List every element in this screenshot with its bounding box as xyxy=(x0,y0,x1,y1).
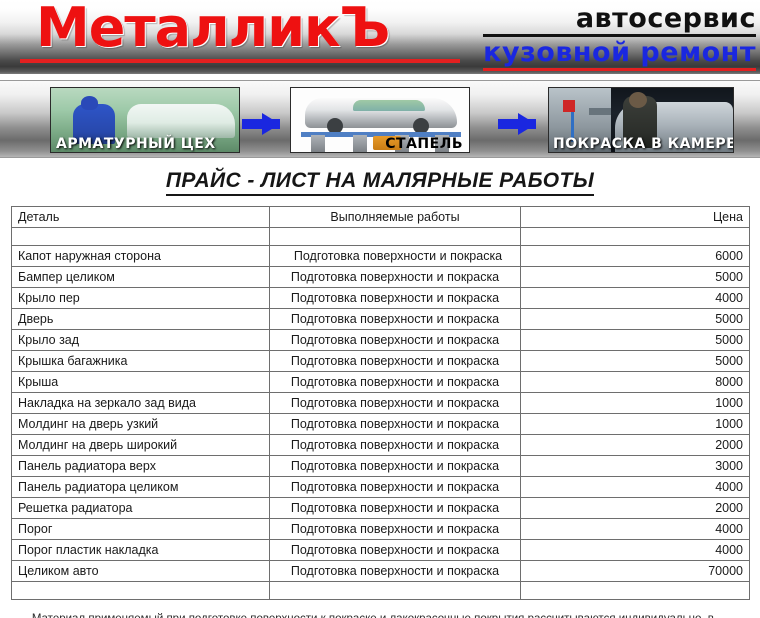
spacer-cell xyxy=(270,582,521,600)
price-cell: 5000 xyxy=(521,309,750,330)
work-cell: Подготовка поверхности и покраска xyxy=(270,267,521,288)
price-cell: 4000 xyxy=(521,519,750,540)
price-cell: 2000 xyxy=(521,435,750,456)
work-cell: Подготовка поверхности и покраска xyxy=(270,435,521,456)
work-cell: Подготовка поверхности и покраска xyxy=(270,393,521,414)
table-row: Капот наружная сторонаПодготовка поверхн… xyxy=(12,246,750,267)
part-cell: Крыло пер xyxy=(12,288,270,309)
table-row: Панель радиатора верхПодготовка поверхно… xyxy=(12,456,750,477)
part-cell: Крыло зад xyxy=(12,330,270,351)
price-table-body: Капот наружная сторонаПодготовка поверхн… xyxy=(12,246,750,582)
photo-paint-booth: ПОКРАСКА В КАМЕРЕ xyxy=(548,87,734,153)
service-tagline-block: автосервис кузовной ремонт xyxy=(483,4,756,71)
work-cell: Подготовка поверхности и покраска xyxy=(270,372,521,393)
price-cell: 70000 xyxy=(521,561,750,582)
table-row: Молдинг на дверь широкийПодготовка повер… xyxy=(12,435,750,456)
work-cell: Подготовка поверхности и покраска xyxy=(270,246,521,267)
price-table-head: Деталь Выполняемые работы Цена xyxy=(12,207,750,246)
brand-underline-rule xyxy=(20,59,460,63)
table-row: Крышка багажникаПодготовка поверхности и… xyxy=(12,351,750,372)
price-table: Деталь Выполняемые работы Цена Капот нар… xyxy=(11,206,750,600)
part-cell: Порог пластик накладка xyxy=(12,540,270,561)
price-cell: 5000 xyxy=(521,351,750,372)
part-cell: Капот наружная сторона xyxy=(12,246,270,267)
table-row: Крыло задПодготовка поверхности и покрас… xyxy=(12,330,750,351)
table-spacer-row-top xyxy=(12,228,750,246)
price-cell: 4000 xyxy=(521,540,750,561)
work-cell: Подготовка поверхности и покраска xyxy=(270,288,521,309)
column-header-work: Выполняемые работы xyxy=(270,207,521,228)
part-cell: Панель радиатора целиком xyxy=(12,477,270,498)
work-cell: Подготовка поверхности и покраска xyxy=(270,330,521,351)
workflow-photo-strip: АРМАТУРНЫЙ ЦЕХ СТАПЕЛЬ ПОКРАСКА В КАМЕРЕ xyxy=(0,80,760,158)
price-cell: 8000 xyxy=(521,372,750,393)
spacer-cell xyxy=(270,228,521,246)
rack-leg xyxy=(311,135,325,152)
table-row: КрышаПодготовка поверхности и покраска80… xyxy=(12,372,750,393)
table-row: Панель радиатора целикомПодготовка повер… xyxy=(12,477,750,498)
table-row: Молдинг на дверь узкийПодготовка поверхн… xyxy=(12,414,750,435)
painter-head-shape xyxy=(629,92,647,108)
spacer-cell xyxy=(12,582,270,600)
photo-caption-paint-booth: ПОКРАСКА В КАМЕРЕ xyxy=(553,136,734,152)
part-cell: Накладка на зеркало зад вида xyxy=(12,393,270,414)
page-title-area: ПРАЙС - ЛИСТ НА МАЛЯРНЫЕ РАБОТЫ xyxy=(0,158,760,206)
flow-arrow-2-icon xyxy=(518,113,536,135)
table-header-row: Деталь Выполняемые работы Цена xyxy=(12,207,750,228)
column-header-price: Цена xyxy=(521,207,750,228)
work-cell: Подготовка поверхности и покраска xyxy=(270,498,521,519)
price-cell: 1000 xyxy=(521,393,750,414)
part-cell: Бампер целиком xyxy=(12,267,270,288)
column-header-part: Деталь xyxy=(12,207,270,228)
work-cell: Подготовка поверхности и покраска xyxy=(270,456,521,477)
sedan-window-shape xyxy=(353,100,425,111)
part-cell: Панель радиатора верх xyxy=(12,456,270,477)
company-logo-text: МеталликЪ xyxy=(36,0,389,59)
booth-equipment-red xyxy=(563,100,575,112)
table-row: Крыло перПодготовка поверхности и покрас… xyxy=(12,288,750,309)
price-cell: 2000 xyxy=(521,498,750,519)
part-cell: Молдинг на дверь широкий xyxy=(12,435,270,456)
work-cell: Подготовка поверхности и покраска xyxy=(270,519,521,540)
table-row: Порог пластик накладкаПодготовка поверхн… xyxy=(12,540,750,561)
booth-equipment-grey xyxy=(589,108,611,115)
price-cell: 1000 xyxy=(521,414,750,435)
page-title: ПРАЙС - ЛИСТ НА МАЛЯРНЫЕ РАБОТЫ xyxy=(166,169,594,196)
part-cell: Дверь xyxy=(12,309,270,330)
work-cell: Подготовка поверхности и покраска xyxy=(270,477,521,498)
table-row: Накладка на зеркало зад видаПодготовка п… xyxy=(12,393,750,414)
photo-arm-shop: АРМАТУРНЫЙ ЦЕХ xyxy=(50,87,240,153)
price-cell: 3000 xyxy=(521,456,750,477)
price-cell: 4000 xyxy=(521,477,750,498)
table-row: ПорогПодготовка поверхности и покраска40… xyxy=(12,519,750,540)
table-row: Бампер целикомПодготовка поверхности и п… xyxy=(12,267,750,288)
work-cell: Подготовка поверхности и покраска xyxy=(270,414,521,435)
part-cell: Молдинг на дверь узкий xyxy=(12,414,270,435)
damaged-car-shape xyxy=(127,104,235,138)
price-cell: 5000 xyxy=(521,330,750,351)
price-cell: 4000 xyxy=(521,288,750,309)
table-row: ДверьПодготовка поверхности и покраска50… xyxy=(12,309,750,330)
rack-leg xyxy=(353,135,367,152)
table-row: Целиком автоПодготовка поверхности и пок… xyxy=(12,561,750,582)
price-cell: 5000 xyxy=(521,267,750,288)
spacer-cell xyxy=(521,228,750,246)
table-spacer-row-bottom xyxy=(12,582,750,600)
part-cell: Порог xyxy=(12,519,270,540)
photo-caption-arm-shop: АРМАТУРНЫЙ ЦЕХ xyxy=(56,136,216,152)
table-row: Решетка радиатораПодготовка поверхности … xyxy=(12,498,750,519)
footnote-text: -Материал применяемый при подготовке пов… xyxy=(0,600,760,618)
work-cell: Подготовка поверхности и покраска xyxy=(270,309,521,330)
work-cell: Подготовка поверхности и покраска xyxy=(270,561,521,582)
flow-arrow-1-icon xyxy=(262,113,280,135)
part-cell: Крышка багажника xyxy=(12,351,270,372)
tagline-divider-red xyxy=(483,68,756,71)
price-cell: 6000 xyxy=(521,246,750,267)
header-banner: МеталликЪ автосервис кузовной ремонт xyxy=(0,0,760,74)
price-table-foot xyxy=(12,582,750,600)
spacer-cell xyxy=(12,228,270,246)
tagline-bodyrepair: кузовной ремонт xyxy=(483,37,756,68)
price-table-wrap: Деталь Выполняемые работы Цена Капот нар… xyxy=(0,206,760,600)
tagline-autoservice: автосервис xyxy=(483,4,756,34)
photo-frame-rack: СТАПЕЛЬ xyxy=(290,87,470,153)
part-cell: Решетка радиатора xyxy=(12,498,270,519)
work-cell: Подготовка поверхности и покраска xyxy=(270,351,521,372)
part-cell: Крыша xyxy=(12,372,270,393)
spacer-cell xyxy=(521,582,750,600)
mechanic-head-shape xyxy=(81,96,98,110)
photo-caption-frame-rack: СТАПЕЛЬ xyxy=(385,136,463,152)
work-cell: Подготовка поверхности и покраска xyxy=(270,540,521,561)
part-cell: Целиком авто xyxy=(12,561,270,582)
